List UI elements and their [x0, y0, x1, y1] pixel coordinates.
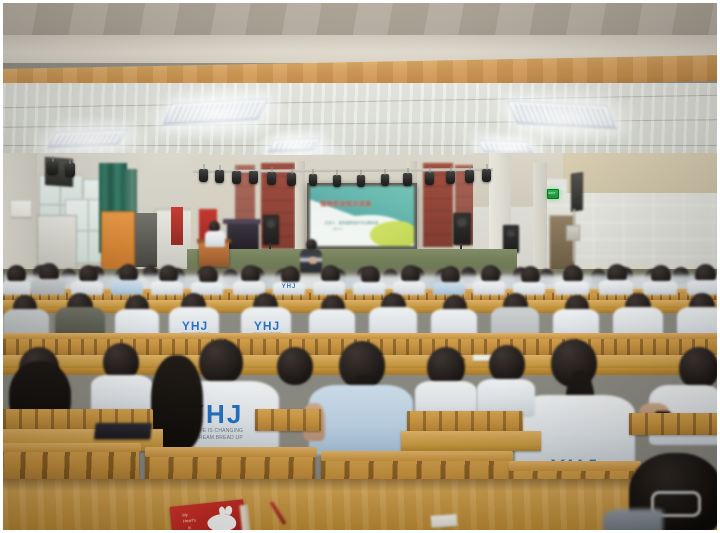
- desk-notebook-dark: [94, 423, 152, 439]
- stage-light: [287, 173, 296, 186]
- stage-light: [249, 171, 258, 184]
- bench-rail: [321, 451, 513, 461]
- desk-front-panel: [3, 308, 720, 313]
- left-red-box: [171, 207, 183, 245]
- stage-light: [199, 169, 208, 182]
- ceiling-upper-panel: [3, 3, 717, 37]
- audience-head: [199, 339, 243, 385]
- wall-speaker-right: [571, 172, 583, 212]
- stage-light: [465, 170, 474, 183]
- bench-rail: [3, 333, 720, 339]
- slide-subtitle: 主讲人：园林植物保护专业教研组: [325, 220, 379, 225]
- stage-light: [215, 170, 224, 183]
- notebook-title-line1: My: [182, 512, 188, 518]
- ceiling-light-fixture: [267, 138, 320, 153]
- uniform-tagline-line2: DREAM BREAD UP: [195, 435, 243, 441]
- stage-light: [482, 169, 491, 182]
- piano-lid: [223, 219, 261, 224]
- pa-speaker-left: [263, 215, 279, 245]
- bench-back-foreground: [0, 447, 139, 481]
- pa-speaker-right: [453, 213, 471, 245]
- lecture-hall-photograph: 植物防治知识讲座 主讲人：园林植物保护专业教研组 2017.5 EXIT: [0, 0, 720, 533]
- stage-light: [65, 163, 75, 177]
- audience-torso: [353, 282, 385, 295]
- notebook-title-line2: Heart's: [183, 517, 197, 523]
- projection-screen: 植物防治知识讲座 主讲人：园林植物保护专业教研组 2017.5: [310, 186, 414, 246]
- desk-paper: [431, 514, 458, 528]
- stage-light: [333, 175, 341, 187]
- slide-title: 植物防治知识讲座: [320, 199, 371, 208]
- audience-torso: [313, 281, 345, 295]
- right-wall-upper: [563, 153, 720, 193]
- audience-torso: [473, 281, 505, 295]
- upright-piano: [227, 221, 259, 251]
- audience-torso: [31, 279, 65, 295]
- ceiling-light-fixture: [47, 130, 128, 148]
- projection-screen-frame: 植物防治知识讲座 主讲人：园林植物保护专业教研组 2017.5: [307, 183, 417, 249]
- audience-torso: [599, 280, 633, 295]
- host-body: [205, 231, 225, 247]
- audience-head: [277, 347, 313, 385]
- slide-date: 2017.5: [333, 227, 342, 231]
- exit-sign-label: EXIT: [547, 189, 557, 197]
- foreground-shoulder: [603, 509, 663, 533]
- audience-torso: [1, 281, 31, 295]
- bench-rail: [509, 461, 641, 471]
- uniform-logo: YHJ: [282, 284, 297, 290]
- audience-torso: [151, 281, 183, 295]
- bench-rail: [145, 447, 317, 457]
- stage-light: [381, 174, 389, 186]
- stage-light: [425, 172, 434, 185]
- bench-rail: [0, 443, 141, 452]
- audience-torso: [555, 281, 589, 295]
- bench-back: [629, 413, 720, 435]
- audience-head: [679, 347, 719, 389]
- desk-row: [401, 431, 541, 451]
- left-wall-notice: [11, 201, 31, 217]
- bench-back: [255, 409, 321, 431]
- uniform-tagline-line1: LIFE IS CHANGING: [195, 428, 243, 434]
- desk-shadow: [3, 479, 720, 491]
- stage-light: [267, 172, 276, 185]
- audience-torso: [643, 281, 677, 295]
- stage-light: [357, 175, 365, 187]
- bench-back: [407, 411, 523, 433]
- stage-light: [309, 174, 317, 186]
- right-wall-outlet: [566, 225, 580, 241]
- stage-light: [446, 171, 455, 184]
- rabbit-mascot-icon: [206, 511, 239, 533]
- audience-torso: [433, 282, 465, 295]
- notebook-title-line3: is: [188, 525, 192, 530]
- audience-torso: [111, 280, 143, 295]
- stage-wall-column: [295, 161, 305, 253]
- stage-light: [403, 173, 412, 186]
- stage-light: [232, 171, 241, 184]
- stage-light: [47, 161, 58, 175]
- audience-head: [489, 345, 525, 383]
